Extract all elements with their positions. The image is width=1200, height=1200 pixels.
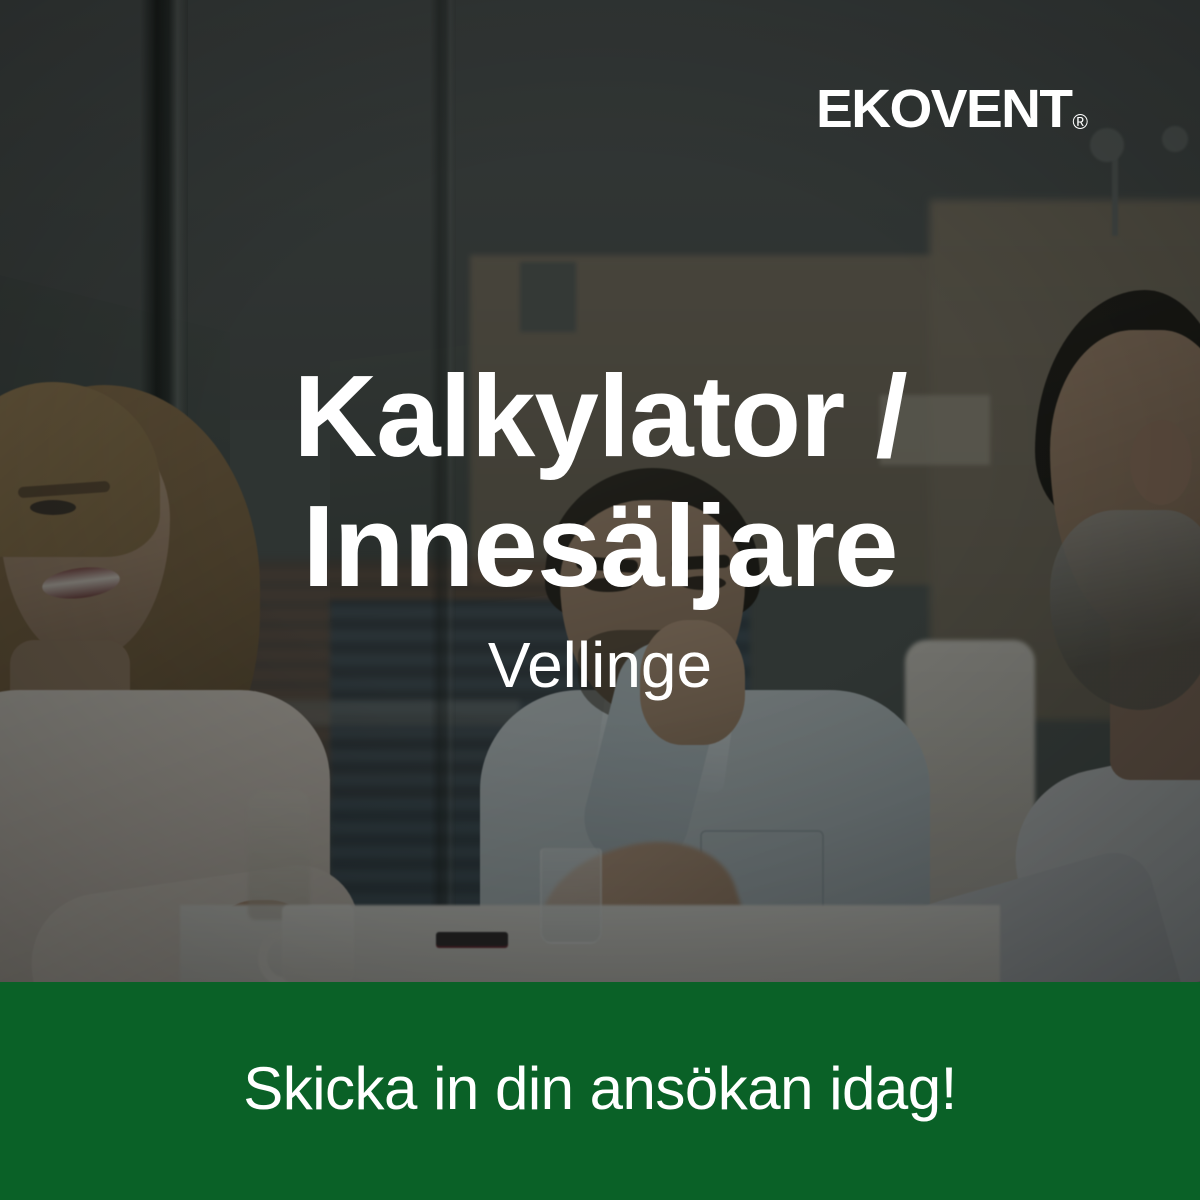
page-title: Kalkylator / Innesäljare — [0, 352, 1200, 612]
ekovent-logo[interactable]: EKOVENT ® — [816, 82, 1088, 136]
page-title-line-1: Kalkylator / — [293, 351, 906, 481]
registered-trademark-icon: ® — [1073, 112, 1088, 133]
job-ad-poster: EKOVENT ® Kalkylator / Innesäljare Velli… — [0, 0, 1200, 1200]
headline-block: Kalkylator / Innesäljare Vellinge — [0, 352, 1200, 700]
logo-wordmark: EKOVENT — [816, 82, 1072, 136]
cta-footer-banner[interactable]: Skicka in din ansökan idag! — [0, 982, 1200, 1200]
location-subtitle: Vellinge — [0, 630, 1200, 700]
page-title-line-2: Innesäljare — [302, 481, 897, 611]
cta-text: Skicka in din ansökan idag! — [243, 1059, 957, 1123]
